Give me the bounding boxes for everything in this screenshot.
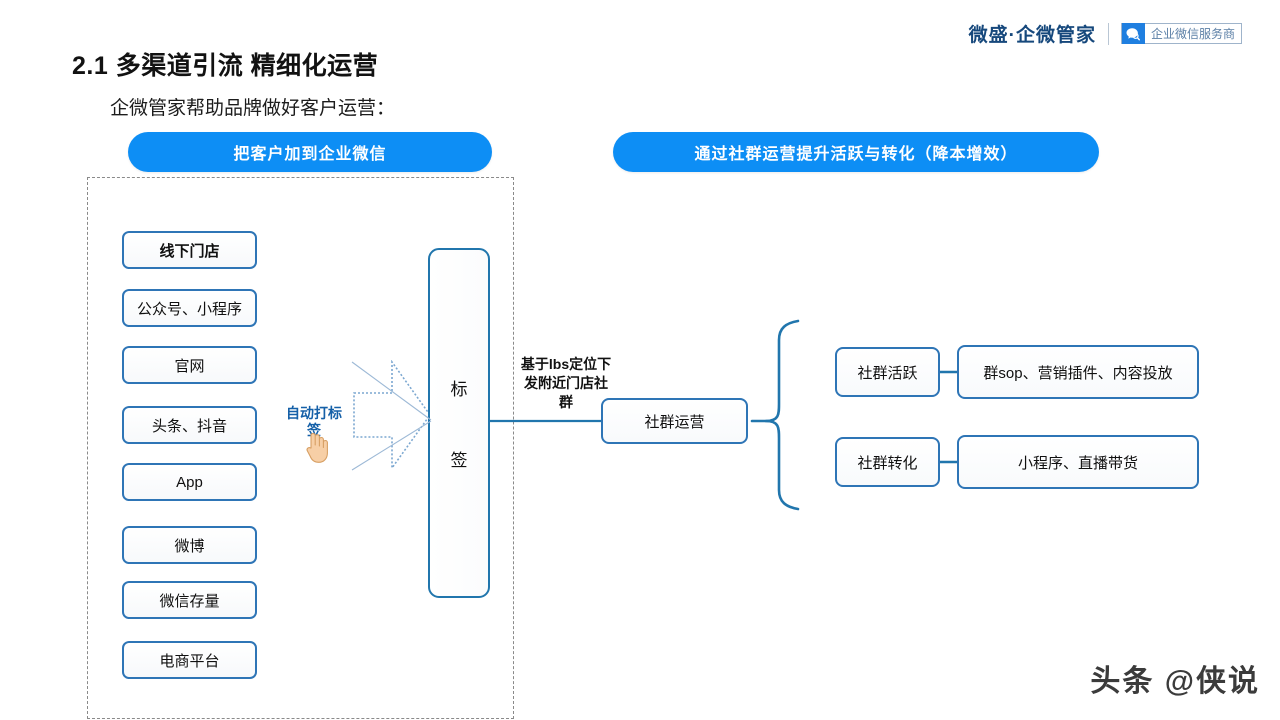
node-community-conversion-detail[interactable]: 小程序、直播带货 [957, 435, 1199, 489]
channel-box-1[interactable]: 线下门店 [122, 231, 257, 269]
node-community-operations[interactable]: 社群运营 [601, 398, 748, 444]
node-community-conversion[interactable]: 社群转化 [835, 437, 940, 487]
section-header-acquire: 把客户加到企业微信 [128, 132, 492, 172]
brand-divider [1108, 23, 1109, 45]
tag-char-top: 标 [451, 375, 468, 400]
tag-node[interactable]: 标 签 [428, 248, 490, 598]
service-provider-badge: 企业微信服务商 [1121, 23, 1242, 44]
brand-header: 微盛·企微管家 企业微信服务商 [969, 20, 1242, 47]
watermark: 头条 @侠说 [1090, 656, 1260, 700]
channel-box-6[interactable]: 微博 [122, 526, 257, 564]
channel-box-3[interactable]: 官网 [122, 346, 257, 384]
pointing-hand-icon [300, 428, 330, 464]
node-community-activity-detail[interactable]: 群sop、营销插件、内容投放 [957, 345, 1199, 399]
badge-label: 企业微信服务商 [1145, 25, 1241, 42]
channel-box-4[interactable]: 头条、抖音 [122, 406, 257, 444]
channel-box-2[interactable]: 公众号、小程序 [122, 289, 257, 327]
channel-box-8[interactable]: 电商平台 [122, 641, 257, 679]
tag-char-bottom: 签 [451, 446, 468, 471]
channel-box-7[interactable]: 微信存量 [122, 581, 257, 619]
section-header-operate: 通过社群运营提升活跃与转化（降本增效） [613, 132, 1099, 172]
funnel-arrow-icon [352, 360, 432, 470]
page-title: 2.1 多渠道引流 精细化运营 [72, 46, 378, 82]
lbs-note-label: 基于lbs定位下发附近门店社群 [518, 355, 614, 412]
page-subtitle: 企微管家帮助品牌做好客户运营： [110, 93, 395, 120]
node-community-activity[interactable]: 社群活跃 [835, 347, 940, 397]
brand-name: 微盛·企微管家 [969, 20, 1096, 47]
speech-bubble-search-icon [1122, 23, 1145, 44]
channel-box-5[interactable]: App [122, 463, 257, 501]
